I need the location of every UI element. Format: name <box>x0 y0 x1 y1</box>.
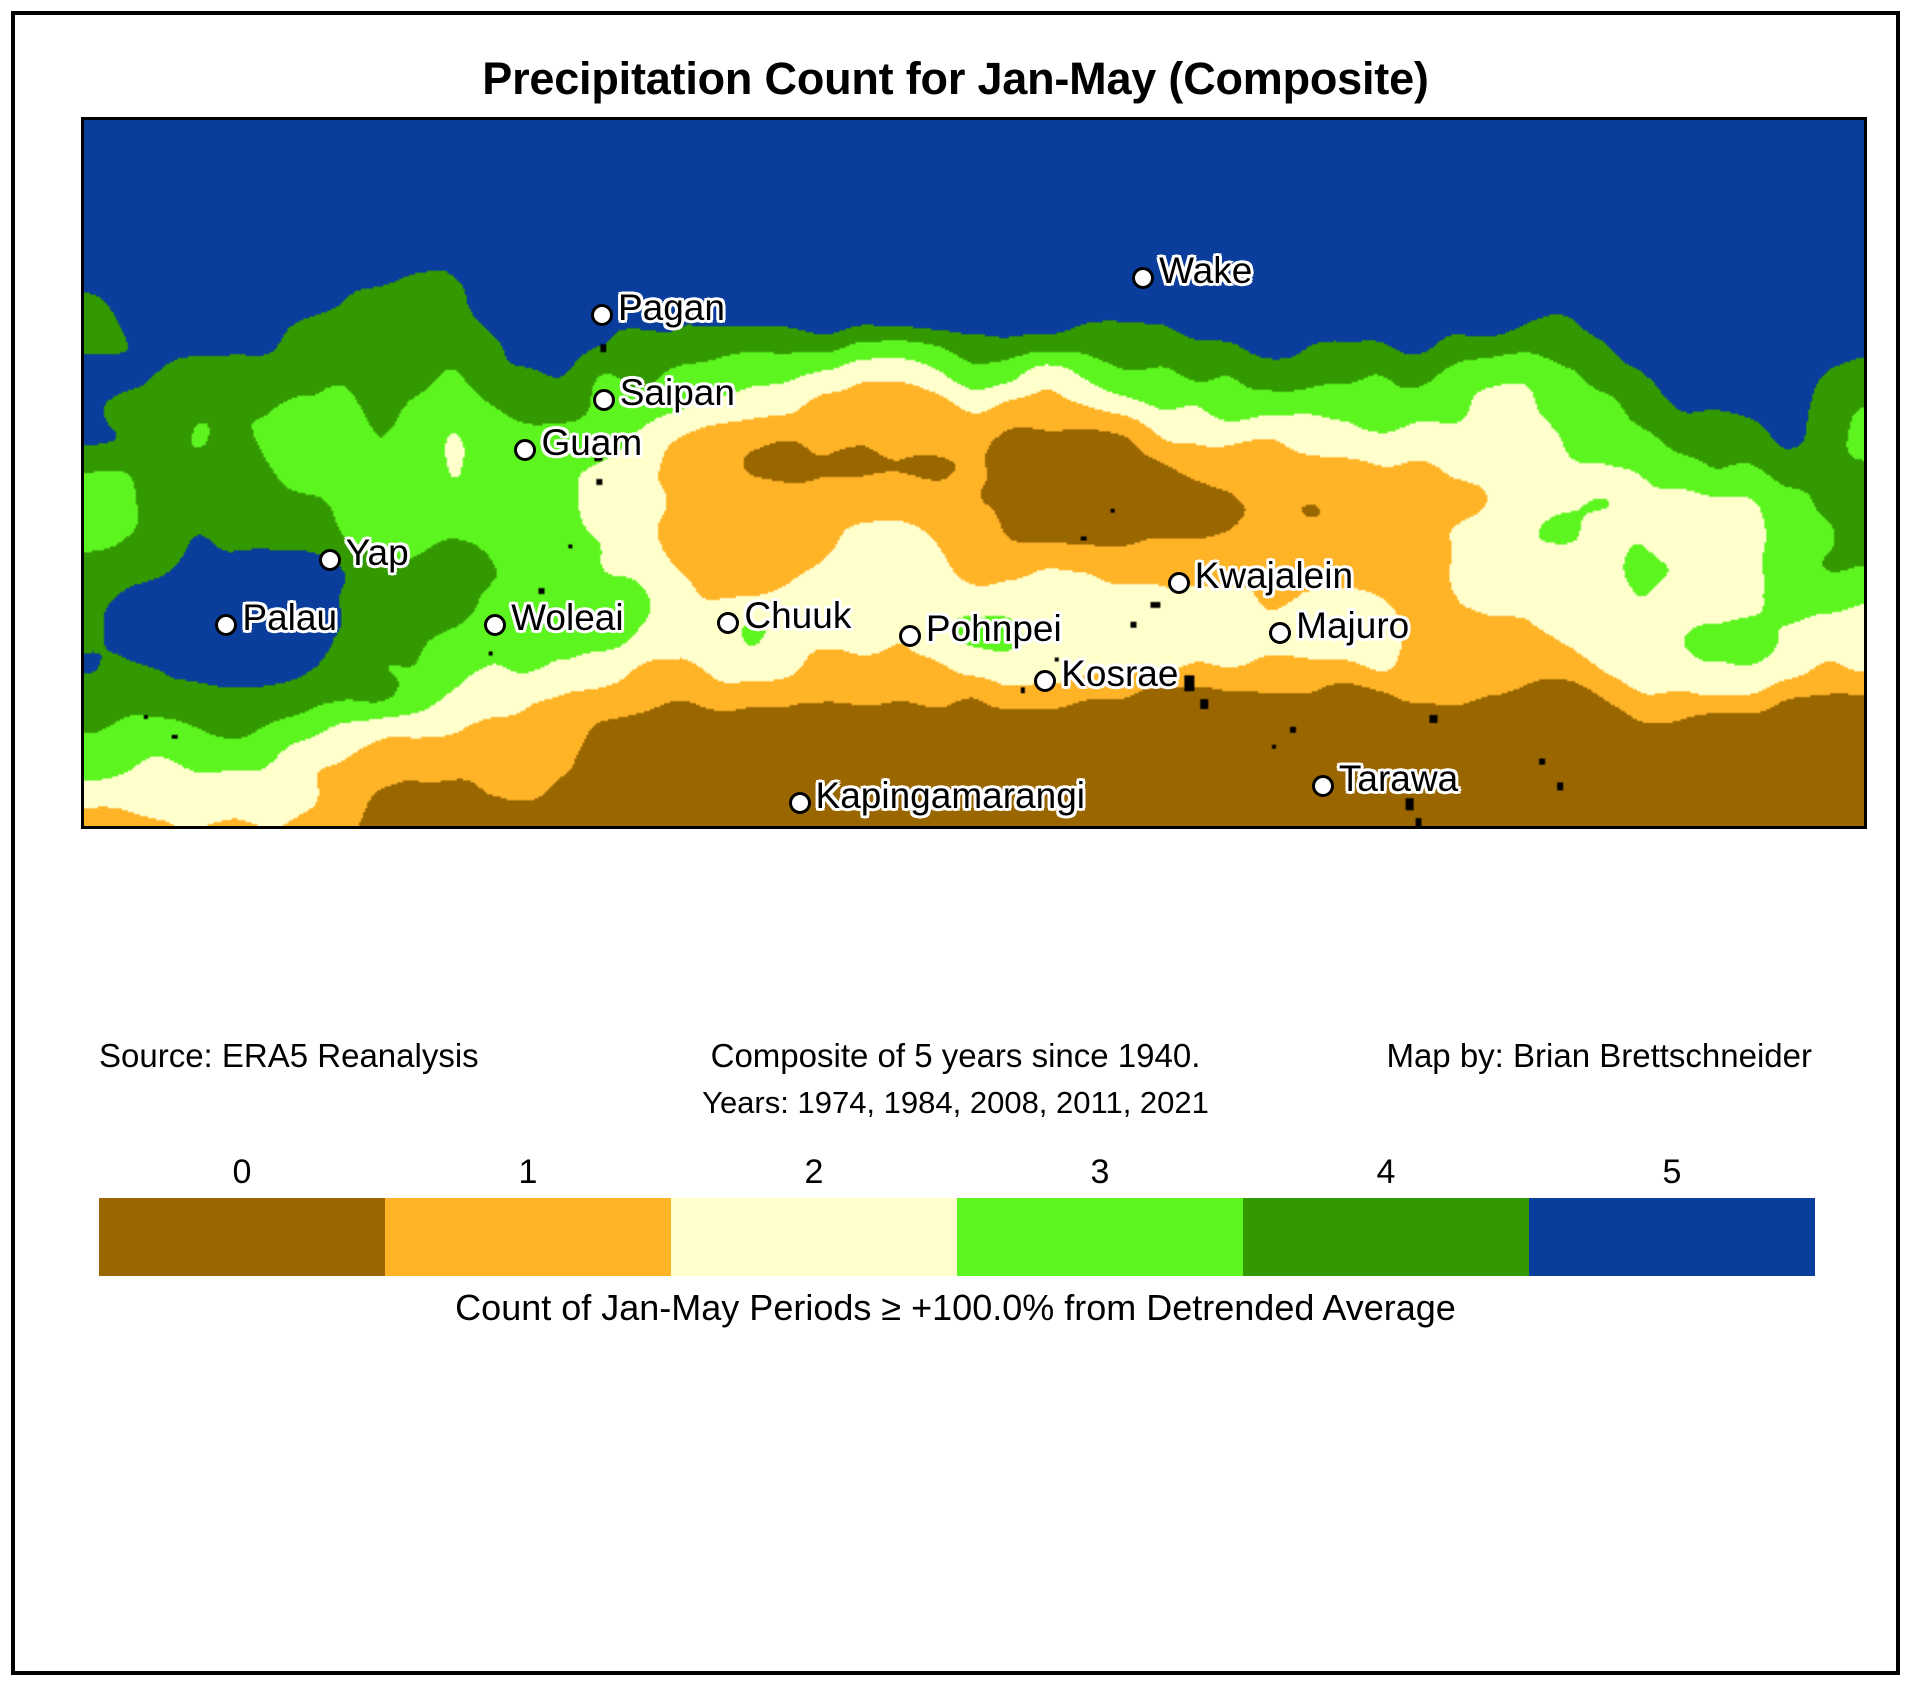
caption-years: Years: 1974, 1984, 2008, 2011, 2021 <box>15 1085 1896 1121</box>
city-label-tarawa: Tarawa <box>1339 760 1458 797</box>
city-label-kapingamarangi: Kapingamarangi <box>816 777 1085 814</box>
colorbar-band-2 <box>671 1198 957 1276</box>
caption-map-by: Map by: Brian Brettschneider <box>1386 1037 1812 1075</box>
colorbar-tick-3: 3 <box>1091 1153 1110 1192</box>
city-dot-icon <box>484 614 506 636</box>
city-label-chuuk: Chuuk <box>744 597 851 634</box>
colorbar-tick-0: 0 <box>233 1153 252 1192</box>
city-dot-icon <box>899 625 921 647</box>
city-label-wake: Wake <box>1159 252 1252 289</box>
city-dot-icon <box>1168 572 1190 594</box>
city-label-saipan: Saipan <box>620 374 735 411</box>
colorbar-tick-4: 4 <box>1377 1153 1396 1192</box>
city-dot-icon <box>591 304 613 326</box>
colorbar-band-0 <box>99 1198 385 1276</box>
colorbar-tick-2: 2 <box>805 1153 824 1192</box>
city-dot-icon <box>514 439 536 461</box>
city-dot-icon <box>593 389 615 411</box>
city-dot-icon <box>1034 670 1056 692</box>
colorbar-tick-labels: 012345 <box>99 1153 1815 1193</box>
city-label-palau: Palau <box>242 599 337 636</box>
colorbar-band-5 <box>1529 1198 1815 1276</box>
colorbar-band-3 <box>957 1198 1243 1276</box>
city-dot-icon <box>717 612 739 634</box>
city-label-woleai: Woleai <box>511 599 623 636</box>
city-dot-icon <box>1269 622 1291 644</box>
city-dot-icon <box>215 614 237 636</box>
colorbar[interactable] <box>99 1198 1815 1276</box>
city-label-guam: Guam <box>541 424 642 461</box>
figure-frame: Precipitation Count for Jan-May (Composi… <box>11 11 1900 1675</box>
map-panel[interactable]: PaganSaipanGuamYapPalauWoleaiChuukPohnpe… <box>81 117 1867 829</box>
city-label-yap: Yap <box>346 534 409 571</box>
colorbar-tick-5: 5 <box>1663 1153 1682 1192</box>
city-label-majuro: Majuro <box>1296 607 1409 644</box>
page-title: Precipitation Count for Jan-May (Composi… <box>15 53 1896 105</box>
city-dot-icon <box>319 549 341 571</box>
city-label-pohnpei: Pohnpei <box>926 610 1062 647</box>
colorbar-tick-1: 1 <box>519 1153 538 1192</box>
colorbar-band-1 <box>385 1198 671 1276</box>
city-label-kwajalein: Kwajalein <box>1195 557 1353 594</box>
colorbar-band-4 <box>1243 1198 1529 1276</box>
city-dot-icon <box>1312 775 1334 797</box>
colorbar-bands <box>99 1198 1815 1276</box>
city-dot-icon <box>789 792 811 814</box>
city-label-kosrae: Kosrae <box>1061 655 1178 692</box>
city-label-pagan: Pagan <box>618 289 725 326</box>
colorbar-caption: Count of Jan-May Periods ≥ +100.0% from … <box>15 1287 1896 1329</box>
city-dot-icon <box>1132 267 1154 289</box>
map-raster <box>84 120 1864 826</box>
